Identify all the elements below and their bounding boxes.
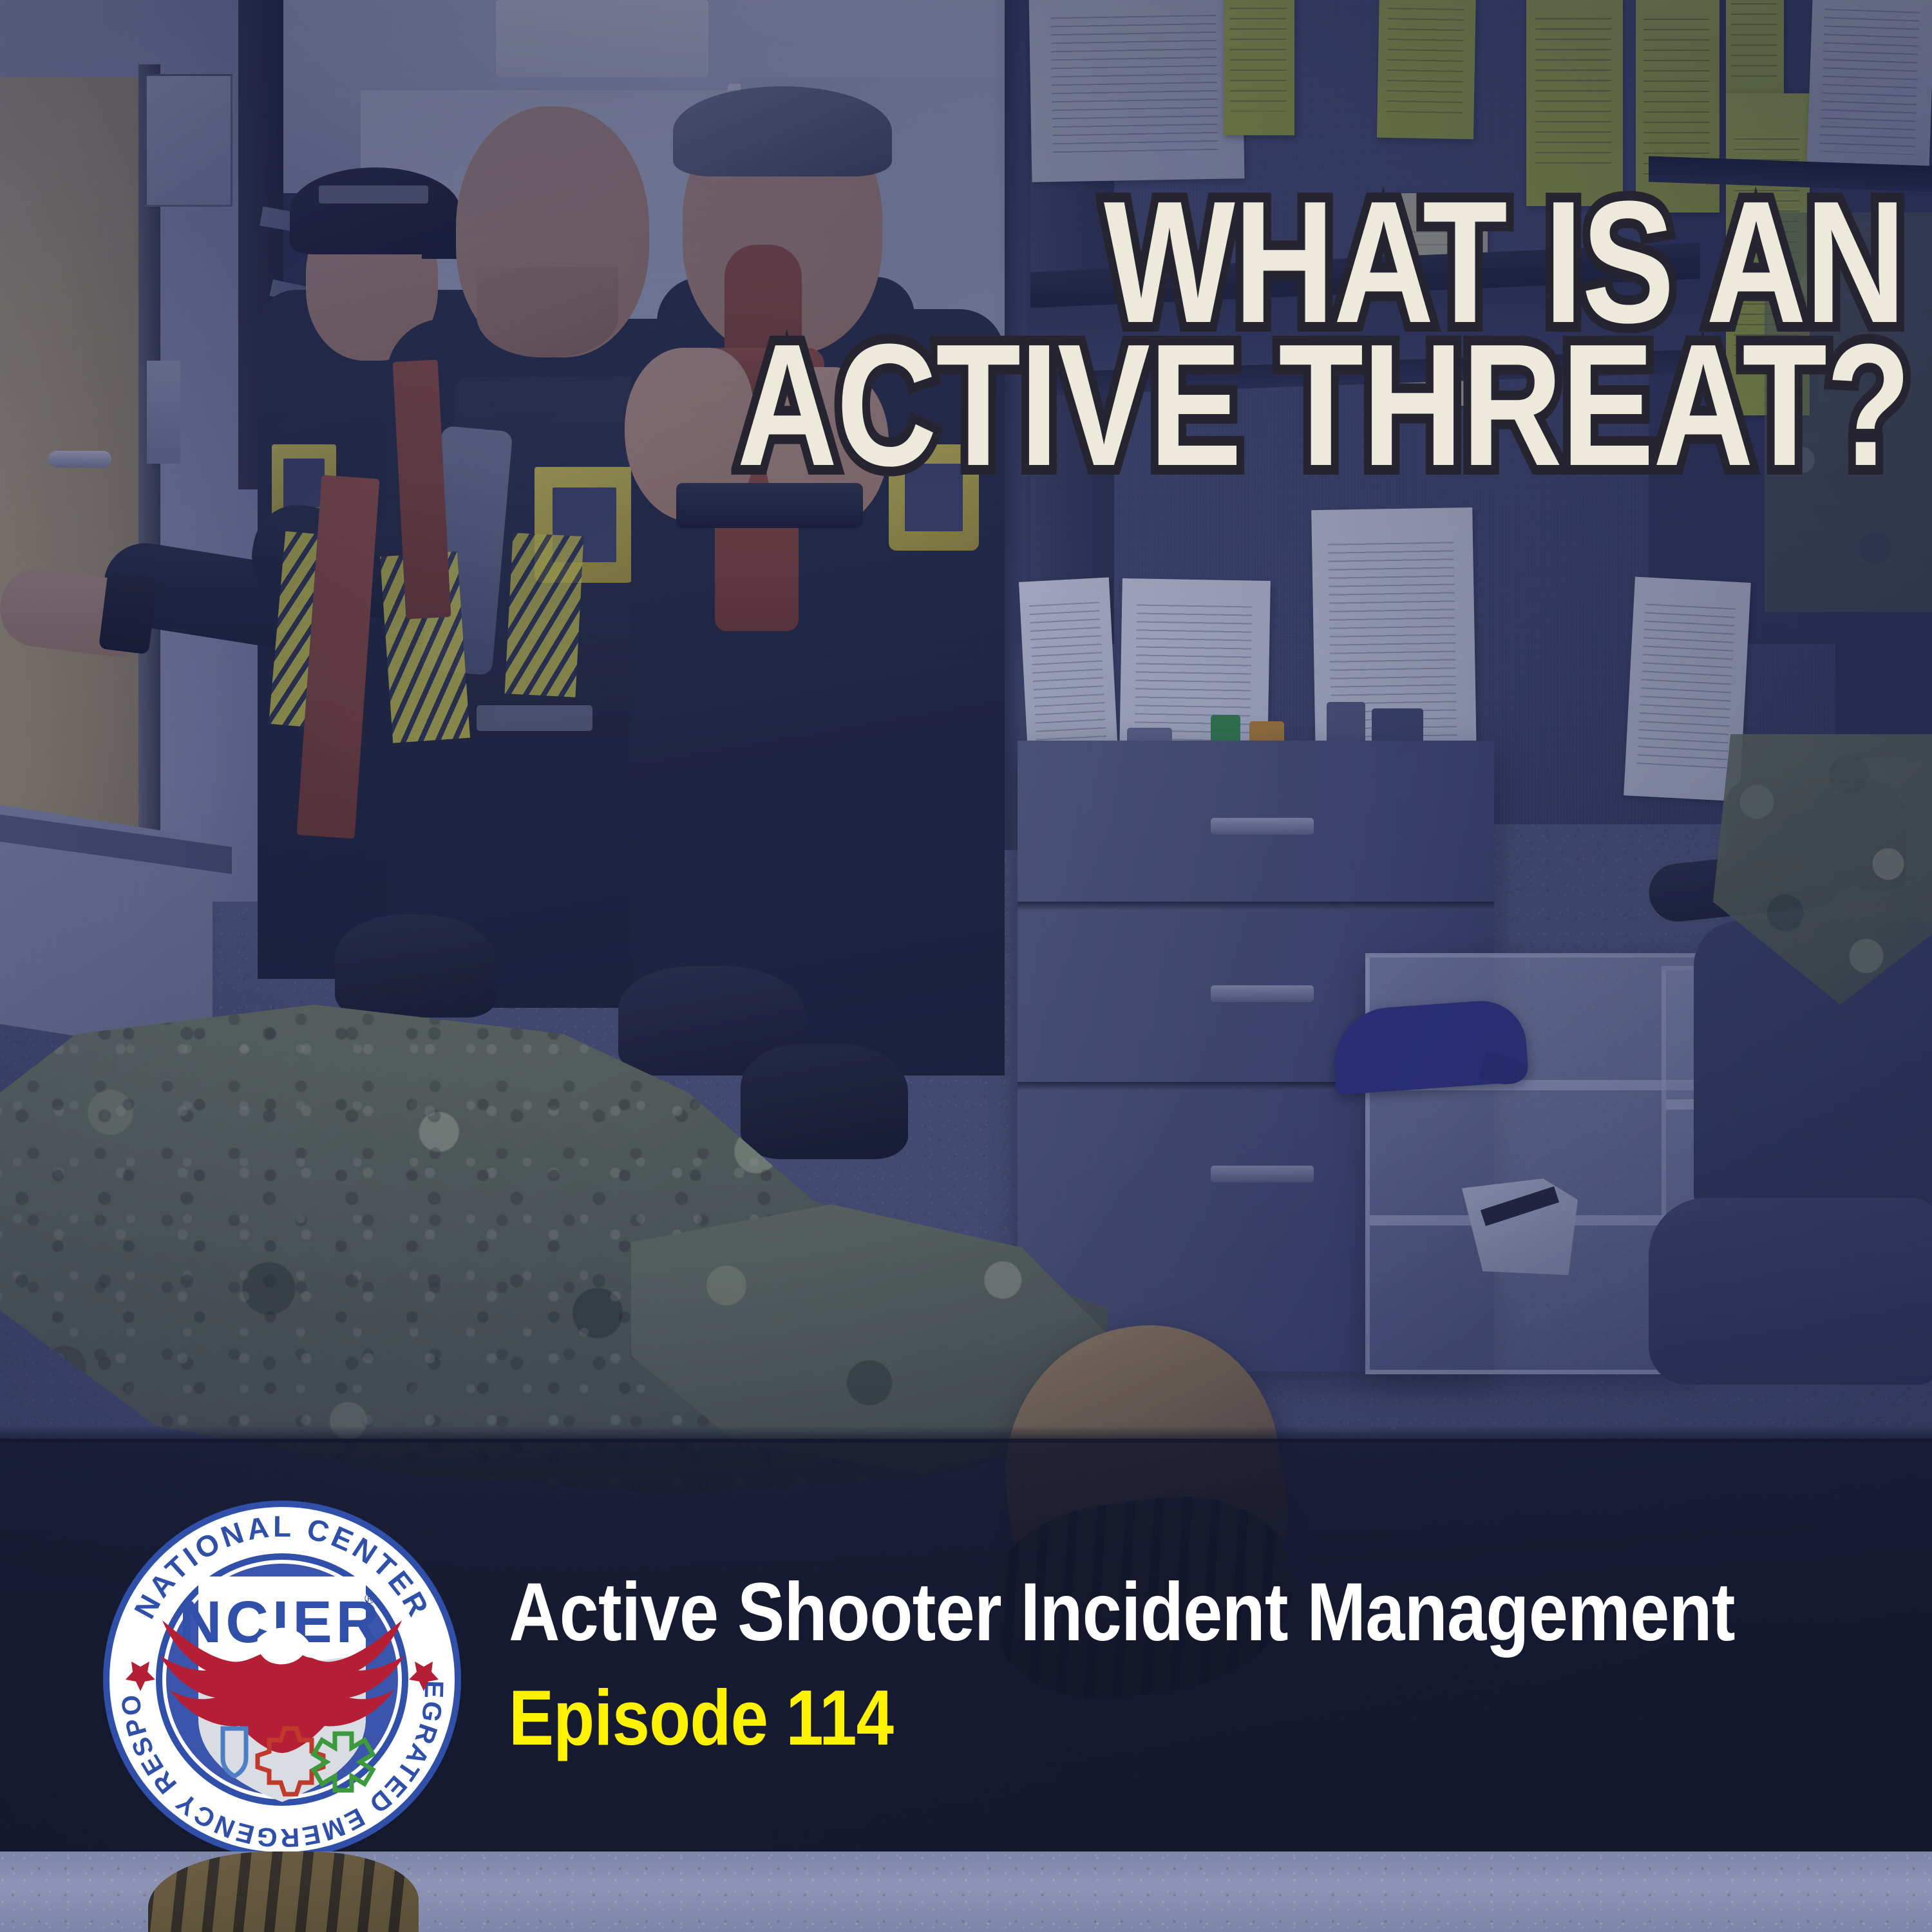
podcast-cover-artwork: WHAT IS AN ACTIVE THREAT? NATIONAL CENTE… — [0, 0, 1932, 1932]
ncier-seal-svg: NATIONAL CENTER INTEGRATED EMERGENCY RES… — [95, 1493, 469, 1866]
footer-text-block: Active Shooter Incident Management Episo… — [509, 1571, 1861, 1829]
seal-registered-mark: ® — [365, 1591, 375, 1607]
show-title: Active Shooter Incident Management — [509, 1571, 1672, 1654]
episode-label: Episode 114 — [509, 1678, 1672, 1757]
ncier-logo: NATIONAL CENTER INTEGRATED EMERGENCY RES… — [95, 1493, 469, 1866]
